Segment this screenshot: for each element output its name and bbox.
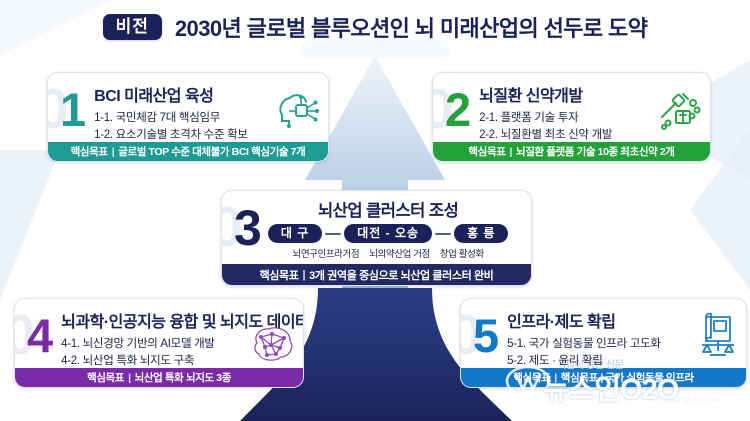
card-footer-3: 핵심목표 | 3개 권역을 중심으로 뇌산업 클러스터 완비 (222, 264, 531, 285)
footer-key-5: 핵심목표 (513, 370, 550, 385)
footer-sep-1: | (112, 146, 115, 158)
card-text-1: BCI 미래산업 육성 1-1. 국민체감 7대 핵심임무 1-2. 요소기술별… (94, 82, 248, 143)
cluster-caption-row: 뇌연구인프라거점 뇌의약산업 거점 창업 활성화 (268, 246, 509, 260)
cluster-caption-1: 뇌연구인프라거점 (292, 246, 359, 260)
card-line-5-1: 5-1. 국가 실험동물 인프라 고도화 (507, 336, 661, 353)
footer-value-3: 3개 권역을 중심으로 뇌산업 클러스터 완비 (309, 267, 493, 283)
footer-value-4: 뇌산업 특화 뇌지도 3종 (135, 370, 231, 385)
watermark-sub: Online to Offline (655, 396, 721, 405)
card-footer-2: 핵심목표 | 뇌질환 플랫폼 기술 10종 최초신약 2개 (433, 142, 710, 161)
cluster-pill-daegu[interactable]: 대 구 (268, 224, 322, 243)
footer-value-1: 글로벌 TOP 수준 대체불가 BCI 핵심기술 7개 (118, 144, 305, 159)
card-number-3: 3 (234, 203, 262, 253)
card-number-1: 1 (60, 86, 86, 133)
card-footer-1: 핵심목표 | 글로벌 TOP 수준 대체불가 BCI 핵심기술 7개 (48, 142, 328, 161)
card-line-1-2: 1-2. 요소기술별 초격차 수준 확보 (94, 127, 248, 144)
footer-key-1: 핵심목표 (71, 144, 108, 159)
card-number-2: 2 (445, 86, 471, 133)
infographic-canvas: 비전 2030년 글로벌 블루오션인 뇌 미래산업의 선두로 도약 0 1 BC… (0, 0, 750, 421)
pill-connector-1 (325, 233, 341, 235)
book-scale-icon (696, 311, 740, 364)
card-footer-5: 핵심목표 | 핵심목표 | 국가 실험동물 인프라 (461, 368, 746, 387)
footer-sep-4: | (128, 372, 131, 384)
card-title-2: 뇌질환 신약개발 (479, 82, 612, 106)
footer-key-4: 핵심목표 (87, 370, 124, 385)
footer-sep-5: | (554, 372, 557, 384)
strategy-card-2[interactable]: 0 2 뇌질환 신약개발 2-1. 플랫폼 기술 투자 2-2. 뇌질환별 최초… (432, 72, 711, 162)
strategy-card-4[interactable]: 0 4 뇌과학·인공지능 융합 및 뇌지도 데이터 4-1. 뇌신경망 기반의 … (14, 298, 304, 388)
card-line-2-2: 2-2. 뇌질환별 최초 신약 개발 (479, 127, 612, 144)
card-number-5: 5 (473, 312, 499, 359)
card-text-5: 인프라·제도 확립 5-1. 국가 실험동물 인프라 고도화 5-2. 제도 ·… (507, 308, 661, 369)
card-title-3: 뇌산업 클러스터 조성 (268, 197, 509, 221)
card-title-5: 인프라·제도 확립 (507, 308, 661, 332)
card-title-1: BCI 미래산업 육성 (94, 82, 248, 106)
footer-sep-2: | (509, 146, 512, 158)
strategy-card-5[interactable]: 0 5 인프라·제도 확립 5-1. 국가 실험동물 인프라 고도화 5-2. … (460, 298, 747, 388)
syringe-molecule-icon (656, 89, 702, 138)
footer-key-3: 핵심목표 (260, 267, 299, 283)
card-footer-4: 핵심목표 | 뇌산업 특화 뇌지도 3종 (15, 368, 303, 387)
footer-key-2: 핵심목표 (468, 144, 505, 159)
card-text-2: 뇌질환 신약개발 2-1. 플랫폼 기술 투자 2-2. 뇌질환별 최초 신약 … (479, 82, 612, 143)
card-number-4: 4 (27, 312, 53, 359)
card-text-3: 뇌산업 클러스터 조성 대 구 대전 - 오송 홍 릉 뇌연구인프라거점 뇌의약… (268, 197, 509, 260)
cluster-pill-row: 대 구 대전 - 오송 홍 릉 (268, 224, 509, 243)
footer-value-2: 뇌질환 플랫폼 기술 10종 최초신약 2개 (516, 144, 675, 159)
page-title: 2030년 글로벌 블루오션인 뇌 미래산업의 선두로 도약 (175, 11, 647, 43)
vision-header: 비전 2030년 글로벌 블루오션인 뇌 미래산업의 선두로 도약 (0, 6, 750, 48)
brain-network-icon (247, 323, 297, 370)
pill-connector-2 (435, 233, 451, 235)
card-line-5-2: 5-2. 제도 · 윤리 확립 (507, 353, 661, 370)
bg-left-wedge (0, 150, 60, 300)
cluster-pill-hongneung[interactable]: 홍 릉 (454, 224, 508, 243)
card-line-2-1: 2-1. 플랫폼 기술 투자 (479, 110, 612, 127)
footer-value-5: 핵심목표 | 국가 실험동물 인프라 (561, 370, 694, 385)
strategy-card-3[interactable]: 0 3 뇌산업 클러스터 조성 대 구 대전 - 오송 홍 릉 뇌연구인프라거점… (221, 190, 532, 286)
card-line-1-1: 1-1. 국민체감 7대 핵심임무 (94, 110, 248, 127)
footer-sep-3: | (302, 269, 305, 281)
cluster-caption-2: 뇌의약산업 거점 (369, 246, 430, 260)
strategy-card-1[interactable]: 0 1 BCI 미래산업 육성 1-1. 국민체감 7대 핵심임무 1-2. 요… (47, 72, 329, 162)
vision-badge: 비전 (103, 14, 162, 41)
cluster-pill-daejeon-osong[interactable]: 대전 - 오송 (344, 224, 432, 243)
brain-chip-icon (276, 89, 320, 138)
cluster-caption-3: 창업 활성화 (440, 246, 484, 260)
